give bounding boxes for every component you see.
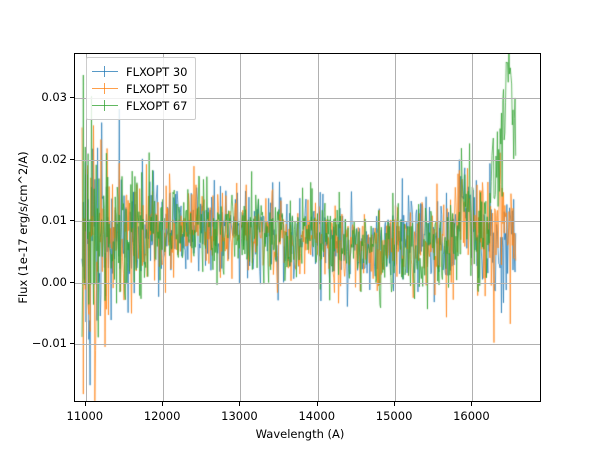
y-tick-label: 0.01: [41, 213, 67, 227]
legend-swatch-flxopt-67: [92, 100, 118, 111]
y-tick-mark: [70, 159, 74, 160]
legend-label-flxopt-30: FLXOPT 30: [126, 65, 187, 79]
x-tick-label: 12000: [144, 409, 181, 423]
plot-axes: FLXOPT 30 FLXOPT 50 FLXOPT 67: [74, 53, 541, 402]
legend-swatch-flxopt-30: [92, 66, 118, 77]
x-tick-mark: [85, 402, 86, 406]
y-tick-label: 0.03: [41, 90, 67, 104]
y-tick-label: 0.02: [41, 152, 67, 166]
x-tick-mark: [394, 402, 395, 406]
x-tick-mark: [471, 402, 472, 406]
legend-item-flxopt-30: FLXOPT 30: [92, 63, 187, 80]
legend-swatch-flxopt-50: [92, 83, 118, 94]
legend-item-flxopt-67: FLXOPT 67: [92, 97, 187, 114]
y-tick-mark: [70, 97, 74, 98]
x-tick-mark: [239, 402, 240, 406]
legend-label-flxopt-67: FLXOPT 67: [126, 99, 187, 113]
x-tick-label: 16000: [453, 409, 490, 423]
spectrum-figure: FLXOPT 30 FLXOPT 50 FLXOPT 67 1100012000…: [0, 0, 600, 450]
x-tick-label: 11000: [67, 409, 104, 423]
y-tick-mark: [70, 343, 74, 344]
x-tick-mark: [317, 402, 318, 406]
y-tick-label: −0.01: [32, 336, 67, 350]
y-tick-label: 0.00: [41, 275, 67, 289]
legend-item-flxopt-50: FLXOPT 50: [92, 80, 187, 97]
x-axis-label: Wavelength (A): [0, 427, 600, 441]
x-tick-label: 14000: [298, 409, 335, 423]
legend-label-flxopt-50: FLXOPT 50: [126, 82, 187, 96]
y-axis-label: Flux (1e-17 erg/s/cm^2/A): [16, 53, 30, 402]
x-tick-label: 13000: [221, 409, 258, 423]
x-tick-mark: [162, 402, 163, 406]
y-tick-mark: [70, 282, 74, 283]
legend: FLXOPT 30 FLXOPT 50 FLXOPT 67: [86, 57, 196, 120]
x-tick-label: 15000: [376, 409, 413, 423]
y-tick-mark: [70, 220, 74, 221]
